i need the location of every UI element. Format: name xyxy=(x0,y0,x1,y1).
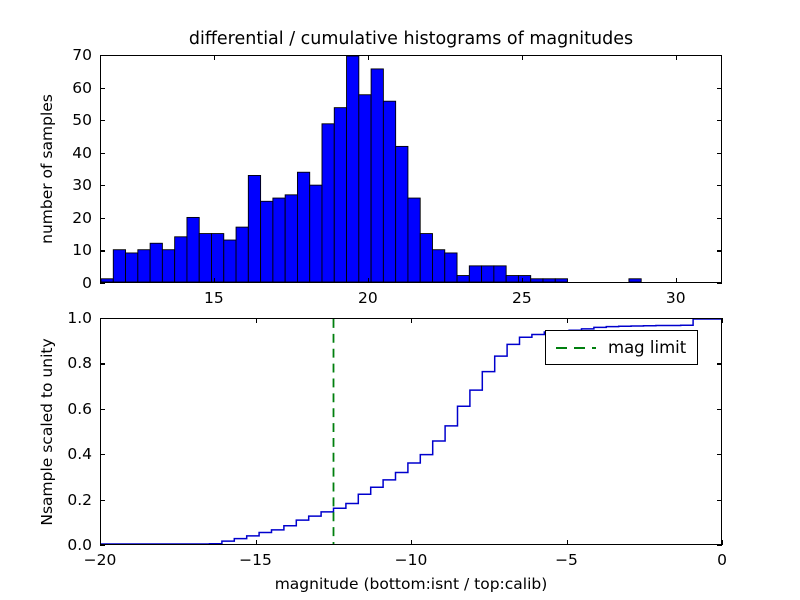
histogram-bar xyxy=(236,227,248,282)
histogram-bar xyxy=(150,243,162,282)
x-tick-mark xyxy=(522,278,523,283)
histogram-bar xyxy=(531,279,543,282)
histogram-bar xyxy=(187,217,199,282)
y-tick-mark-right xyxy=(717,153,722,154)
histogram-bar xyxy=(383,101,395,282)
histogram-bar xyxy=(396,146,408,282)
y-tick-mark xyxy=(100,55,105,56)
x-tick-label: 20 xyxy=(358,289,378,307)
histogram-bar xyxy=(126,253,138,282)
y-tick-mark xyxy=(100,545,105,546)
y-tick-mark-right xyxy=(717,88,722,89)
y-tick-label: 0 xyxy=(32,274,92,292)
y-tick-mark xyxy=(100,318,105,319)
histogram-bar xyxy=(211,234,223,282)
histogram-bar xyxy=(285,195,297,282)
y-tick-mark-right xyxy=(717,454,722,455)
x-tick-mark-top xyxy=(411,318,412,323)
x-tick-label: 15 xyxy=(204,289,224,307)
y-tick-mark-right xyxy=(717,55,722,56)
legend: mag limit xyxy=(545,330,698,365)
histogram-bar xyxy=(420,234,432,282)
x-tick-label: −15 xyxy=(239,551,272,569)
histogram-bar xyxy=(408,198,420,282)
y-tick-mark-right xyxy=(717,500,722,501)
y-tick-mark xyxy=(100,409,105,410)
top-y-axis-label: number of samples xyxy=(38,94,56,244)
x-tick-mark-top xyxy=(567,318,568,323)
histogram-bar xyxy=(445,253,457,282)
y-tick-label: 0.0 xyxy=(32,536,92,554)
y-tick-mark-right xyxy=(717,283,722,284)
histogram-bar xyxy=(506,276,518,282)
y-tick-mark-right xyxy=(717,409,722,410)
y-tick-label: 70 xyxy=(32,46,92,64)
y-tick-mark xyxy=(100,120,105,121)
matplotlib-figure: differential / cumulative histograms of … xyxy=(0,0,800,600)
legend-label: mag limit xyxy=(608,338,686,357)
histogram-bar xyxy=(175,237,187,282)
histogram-bar xyxy=(359,95,371,282)
histogram-bar xyxy=(555,279,567,282)
x-tick-mark-top xyxy=(722,318,723,323)
histogram-bar xyxy=(224,240,236,282)
y-tick-mark-right xyxy=(717,250,722,251)
y-tick-mark xyxy=(100,250,105,251)
y-tick-mark xyxy=(100,88,105,89)
y-tick-mark-right xyxy=(717,218,722,219)
bottom-x-axis-label: magnitude (bottom:isnt / top:calib) xyxy=(275,575,548,593)
histogram-bar xyxy=(469,266,481,282)
top-histogram-axes xyxy=(100,55,722,283)
histogram-bar xyxy=(261,201,273,282)
histogram-bar xyxy=(113,250,125,282)
histogram-bar xyxy=(347,56,359,282)
y-tick-mark-right xyxy=(717,545,722,546)
histogram-bar xyxy=(297,172,309,282)
y-tick-mark xyxy=(100,185,105,186)
y-tick-label: 10 xyxy=(32,241,92,259)
x-tick-mark-top xyxy=(256,318,257,323)
y-tick-mark-right xyxy=(717,318,722,319)
x-tick-label: −5 xyxy=(555,551,578,569)
x-tick-mark-top xyxy=(214,55,215,60)
histogram-bar xyxy=(334,108,346,282)
histogram-bar xyxy=(629,279,641,282)
histogram-bar xyxy=(310,185,322,282)
histogram-bar xyxy=(494,266,506,282)
figure-title: differential / cumulative histograms of … xyxy=(100,29,722,49)
y-tick-mark xyxy=(100,500,105,501)
x-tick-label: 25 xyxy=(512,289,532,307)
bottom-y-axis-label: Nsample scaled to unity xyxy=(38,338,56,525)
x-tick-mark xyxy=(676,278,677,283)
histogram-bar xyxy=(543,279,555,282)
histogram-bar xyxy=(482,266,494,282)
y-tick-mark xyxy=(100,218,105,219)
x-tick-mark xyxy=(411,540,412,545)
y-tick-mark xyxy=(100,153,105,154)
x-tick-mark xyxy=(256,540,257,545)
y-tick-mark xyxy=(100,363,105,364)
mag-limit-line-icon xyxy=(555,342,597,354)
y-tick-label: 1.0 xyxy=(32,309,92,327)
x-tick-label: 30 xyxy=(666,289,686,307)
x-tick-mark-top xyxy=(676,55,677,60)
differential-histogram-plot xyxy=(101,56,721,282)
histogram-bar xyxy=(138,250,150,282)
histogram-bar xyxy=(322,124,334,282)
histogram-bar xyxy=(371,69,383,282)
x-tick-label: −10 xyxy=(395,551,428,569)
histogram-bar xyxy=(432,250,444,282)
histogram-bar xyxy=(518,276,530,282)
y-tick-mark xyxy=(100,283,105,284)
histogram-bar xyxy=(162,250,174,282)
histogram-bar xyxy=(199,234,211,282)
top-plot-area xyxy=(101,56,721,282)
histogram-bar xyxy=(457,276,469,282)
x-tick-mark xyxy=(567,540,568,545)
x-tick-label: 0 xyxy=(717,551,727,569)
x-tick-mark xyxy=(368,278,369,283)
x-tick-mark-top xyxy=(368,55,369,60)
histogram-bar xyxy=(248,175,260,282)
histogram-bars xyxy=(101,56,641,282)
histogram-bar xyxy=(273,198,285,282)
y-tick-mark-right xyxy=(717,185,722,186)
x-tick-mark xyxy=(214,278,215,283)
x-tick-mark-top xyxy=(522,55,523,60)
y-tick-mark xyxy=(100,454,105,455)
x-tick-mark xyxy=(722,540,723,545)
histogram-bar xyxy=(101,279,113,282)
y-tick-mark-right xyxy=(717,120,722,121)
y-tick-mark-right xyxy=(717,363,722,364)
